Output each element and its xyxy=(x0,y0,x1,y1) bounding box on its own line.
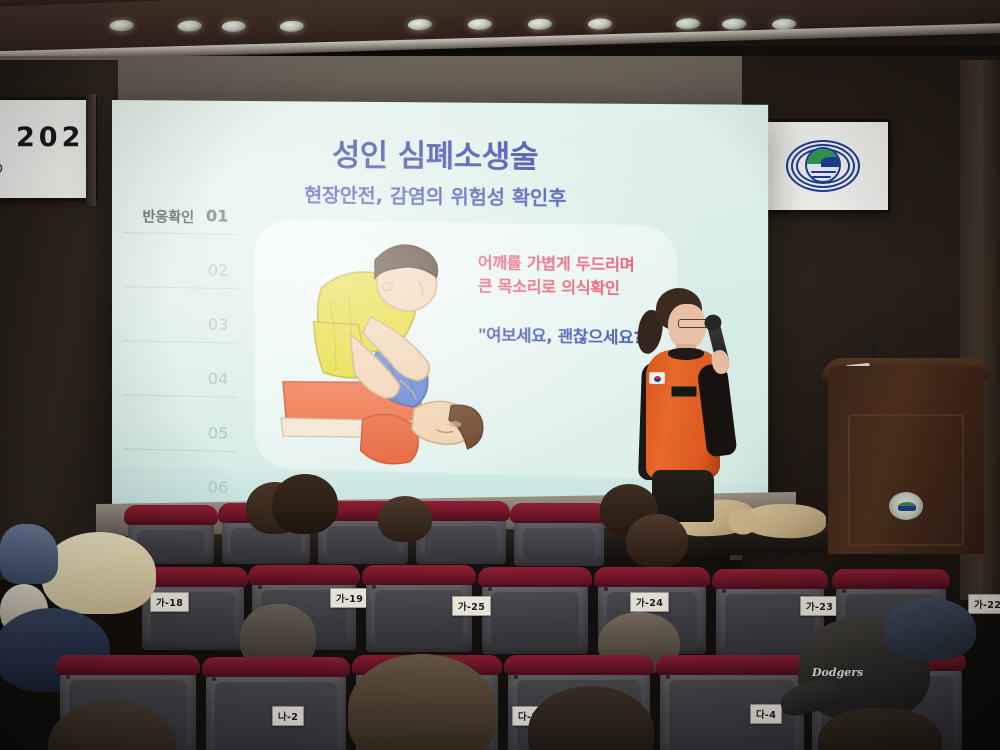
downlight xyxy=(222,21,246,33)
index-item-number: 01 xyxy=(206,206,228,225)
seat-tag: 가-25 xyxy=(452,596,491,616)
downlight xyxy=(109,20,133,32)
seat-tag: 가-22 xyxy=(968,594,1000,614)
index-item: 반응확인 01 xyxy=(124,204,236,260)
audience-cap xyxy=(884,598,976,660)
audience-knit-hat xyxy=(42,532,156,614)
name-badge xyxy=(671,386,697,397)
index-item: 02 xyxy=(124,258,236,314)
index-item-number: 04 xyxy=(208,369,229,389)
downlight xyxy=(468,19,492,31)
index-item-number: 02 xyxy=(208,261,229,280)
index-divider xyxy=(124,394,236,398)
index-item-label: 반응확인 xyxy=(142,206,194,227)
cpr-illustration-icon xyxy=(265,228,507,476)
korean-flag-patch-icon xyxy=(649,372,665,384)
index-item-number: 05 xyxy=(208,423,229,443)
audience-head xyxy=(626,514,688,568)
government-emblem-icon xyxy=(786,140,860,192)
downlight xyxy=(280,20,304,32)
audience-head xyxy=(272,474,338,534)
seat-tag: 나-2 xyxy=(272,706,304,726)
downlight xyxy=(722,18,746,30)
cap-logo-text: Dodgers xyxy=(812,666,863,679)
seat[interactable] xyxy=(142,578,244,650)
index-divider xyxy=(124,232,236,235)
auditorium-photo: ht 202 ngseo 육 성인 심폐소생술 현장안전, 감염의 위험성 확인… xyxy=(0,0,1000,750)
seat-tag: 가-23 xyxy=(800,596,839,616)
index-divider xyxy=(124,286,236,289)
slide-title: 성인 심폐소생술 xyxy=(112,128,768,179)
downlight xyxy=(408,19,432,31)
side-screen-right xyxy=(758,122,888,210)
side-screen-left: ht 202 ngseo xyxy=(0,100,94,198)
emblem-core xyxy=(805,147,841,183)
index-item: 03 xyxy=(124,312,236,368)
seat-tag: 가-19 xyxy=(330,588,369,608)
index-divider xyxy=(124,340,236,343)
downlight xyxy=(588,18,612,30)
index-divider xyxy=(124,448,236,452)
audience-seating: 가-18 가-19 가-25 가-24 가-23 가-22 xyxy=(0,470,1000,750)
downlight xyxy=(178,20,202,32)
screen-bezel xyxy=(86,94,96,206)
index-item-number: 03 xyxy=(208,315,229,334)
audience-head xyxy=(378,496,432,542)
index-item: 04 xyxy=(124,366,236,423)
seat[interactable] xyxy=(482,578,588,654)
side-screen-left-year: 202 xyxy=(16,122,84,153)
seat[interactable] xyxy=(514,514,604,566)
uniform-collar xyxy=(668,348,704,360)
seat-tag: 다-4 xyxy=(750,704,782,724)
audience-head xyxy=(0,524,58,584)
side-screen-left-subtext: ngseo xyxy=(0,158,3,178)
downlight xyxy=(676,18,700,30)
seat-tag: 가-18 xyxy=(150,592,189,612)
seat-tag: 가-24 xyxy=(630,592,669,612)
downlight xyxy=(528,18,552,30)
